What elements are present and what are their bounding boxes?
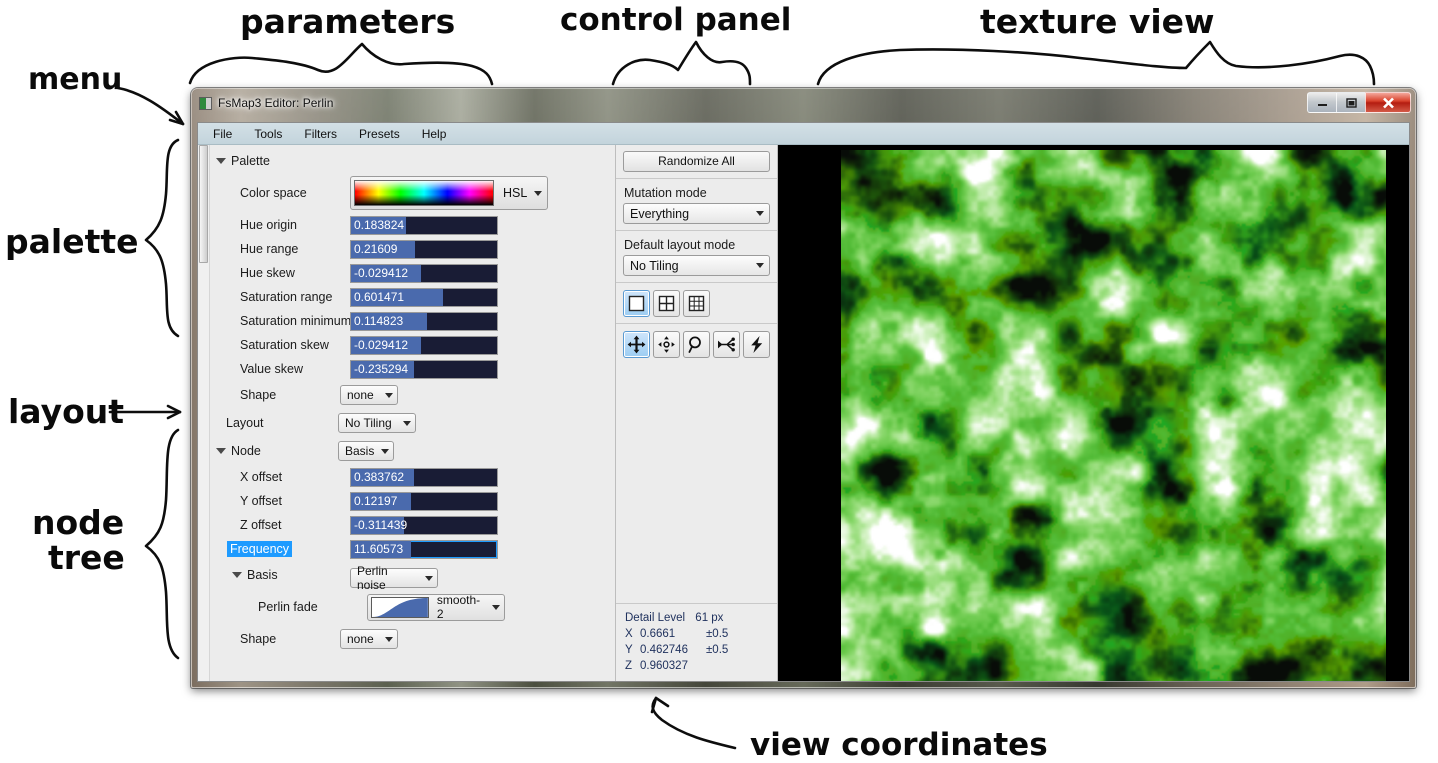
row-layout: Layout No Tiling — [210, 409, 615, 437]
magnifier-icon — [687, 335, 706, 354]
value-z-offset: -0.311439 — [354, 518, 407, 532]
row-hue-skew: Hue skew -0.029412 — [210, 261, 615, 285]
value-palette-shape: none — [347, 388, 374, 402]
label-hue-range: Hue range — [240, 242, 298, 256]
label-frequency[interactable]: Frequency — [227, 541, 292, 557]
caption-button-group — [1307, 92, 1411, 113]
value-default-layout-mode: No Tiling — [630, 259, 679, 273]
menu-bar: File Tools Filters Presets Help — [198, 123, 1409, 145]
quad-view-button[interactable] — [653, 290, 680, 317]
combo-node-shape[interactable]: none — [340, 629, 398, 649]
row-palette-shape: Shape none — [210, 381, 615, 409]
row-frequency: Frequency 11.60573 — [210, 537, 615, 561]
coord-row-x: X 0.6661 ±0.5 — [625, 626, 769, 642]
chevron-down-icon[interactable] — [492, 605, 500, 610]
control-panel: Randomize All Mutation mode Everything D… — [615, 145, 778, 681]
label-perlin-fade: Perlin fade — [258, 600, 318, 614]
annotation-view-coordinates: view coordinates — [750, 727, 1048, 763]
row-y-offset: Y offset 0.12197 — [210, 489, 615, 513]
hue-gradient-icon — [354, 180, 494, 206]
value-node-type: Basis — [345, 444, 374, 458]
label-layout: Layout — [226, 416, 264, 430]
expander-triangle-icon[interactable] — [216, 158, 226, 164]
label-value-skew: Value skew — [240, 362, 303, 376]
quad-pane-icon — [658, 295, 675, 312]
node-branch-icon — [717, 335, 736, 354]
group-header-palette[interactable]: Palette — [210, 149, 615, 173]
parameters-scrollbar-thumb[interactable] — [199, 145, 208, 263]
color-space-widget[interactable]: HSL — [350, 176, 548, 210]
single-view-button[interactable] — [623, 290, 650, 317]
combo-layout[interactable]: No Tiling — [338, 413, 416, 433]
label-hue-origin: Hue origin — [240, 218, 297, 232]
value-frequency: 11.60573 — [354, 542, 403, 556]
annotation-control-panel: control panel — [560, 2, 791, 38]
menu-item-tools[interactable]: Tools — [243, 125, 293, 143]
move-dots-icon — [657, 335, 676, 354]
menu-item-presets[interactable]: Presets — [348, 125, 411, 143]
parameters-panel: Palette Color space HSL Hue origin — [210, 145, 615, 681]
label-node-shape: Shape — [240, 632, 276, 646]
slider-saturation-skew[interactable]: -0.029412 — [350, 336, 498, 355]
value-saturation-skew: -0.029412 — [354, 338, 408, 352]
annotation-texture-view: texture view — [980, 2, 1215, 41]
menu-item-file[interactable]: File — [202, 125, 243, 143]
texture-view-brace — [818, 42, 1374, 84]
menu-arrow — [118, 88, 183, 124]
label-palette-shape: Shape — [240, 388, 276, 402]
row-color-space: Color space HSL — [210, 173, 615, 213]
magnify-tool-button[interactable] — [683, 331, 710, 358]
combo-basis[interactable]: Perlin noise — [350, 562, 438, 588]
fsmap3-editor-window: FsMap3 Editor: Perlin F — [191, 88, 1416, 688]
chevron-down-icon[interactable] — [756, 211, 764, 216]
pan-tool-button[interactable] — [623, 331, 650, 358]
value-y-offset: 0.12197 — [354, 494, 397, 508]
group-label-basis: Basis — [247, 568, 278, 582]
texture-canvas[interactable] — [841, 150, 1386, 681]
grid-view-button[interactable] — [683, 290, 710, 317]
label-z-offset: Z offset — [240, 518, 281, 532]
slider-y-offset[interactable]: 0.12197 — [350, 492, 498, 511]
coord-tolerance-y: ±0.5 — [706, 642, 728, 658]
coord-row-y: Y 0.462746 ±0.5 — [625, 642, 769, 658]
maximize-icon — [1346, 98, 1357, 108]
label-hue-skew: Hue skew — [240, 266, 295, 280]
combo-default-layout-mode[interactable]: No Tiling — [623, 255, 770, 276]
view-mode-toolbar — [616, 283, 777, 321]
group-header-basis[interactable]: Basis Perlin noise — [210, 561, 615, 589]
row-value-skew: Value skew -0.235294 — [210, 357, 615, 381]
control-panel-brace — [613, 42, 750, 84]
detail-level-value: 61 px — [695, 612, 723, 624]
coord-axis-y: Y — [625, 642, 640, 658]
row-saturation-range: Saturation range 0.601471 — [210, 285, 615, 309]
group-header-node[interactable]: Node Basis — [210, 437, 615, 465]
row-x-offset: X offset 0.383762 — [210, 465, 615, 489]
label-color-space: Color space — [240, 186, 307, 200]
coord-value-x: 0.6661 — [640, 626, 706, 642]
node-tree-brace — [146, 430, 178, 658]
slider-hue-skew[interactable]: -0.029412 — [350, 264, 498, 283]
row-saturation-minimum: Saturation minimum 0.114823 — [210, 309, 615, 333]
value-perlin-fade: smooth-2 — [437, 593, 485, 621]
node-tool-button[interactable] — [713, 331, 740, 358]
window-client-area: File Tools Filters Presets Help Palette … — [197, 122, 1410, 682]
value-mutation-mode: Everything — [630, 207, 689, 221]
move-arrows-icon — [627, 335, 646, 354]
label-x-offset: X offset — [240, 470, 282, 484]
minimize-icon — [1317, 98, 1328, 107]
label-default-layout-mode: Default layout mode — [624, 238, 770, 252]
lightning-bolt-icon — [747, 335, 766, 354]
annotation-node-tree-line2: tree — [48, 538, 125, 577]
chevron-down-icon[interactable] — [756, 263, 764, 268]
menu-item-filters[interactable]: Filters — [293, 125, 348, 143]
value-x-offset: 0.383762 — [354, 470, 404, 484]
fade-curve-icon — [371, 597, 429, 618]
value-saturation-minimum: 0.114823 — [354, 314, 403, 328]
close-button[interactable] — [1365, 92, 1411, 113]
close-icon — [1382, 97, 1395, 109]
group-label-palette: Palette — [231, 154, 270, 168]
chevron-down-icon[interactable] — [385, 637, 393, 642]
zoom-pan-tool-button[interactable] — [653, 331, 680, 358]
tool-toolbar — [616, 324, 777, 362]
annotation-palette: palette — [5, 222, 139, 261]
annotation-menu: menu — [28, 62, 122, 97]
parameters-scrollbar[interactable] — [198, 145, 210, 681]
value-basis: Perlin noise — [357, 564, 418, 592]
chevron-down-icon[interactable] — [403, 421, 411, 426]
expander-triangle-icon[interactable] — [216, 448, 226, 454]
row-hue-origin: Hue origin 0.183824 — [210, 213, 615, 237]
grid-pane-icon — [688, 295, 705, 312]
palette-brace — [146, 140, 178, 336]
window-titlebar[interactable]: FsMap3 Editor: Perlin — [191, 88, 1416, 122]
value-layout: No Tiling — [345, 416, 392, 430]
slider-saturation-minimum[interactable]: 0.114823 — [350, 312, 498, 331]
expander-triangle-icon[interactable] — [232, 572, 242, 578]
row-perlin-fade: Perlin fade smooth-2 — [210, 589, 615, 625]
value-value-skew: -0.235294 — [354, 362, 408, 376]
row-z-offset: Z offset -0.311439 — [210, 513, 615, 537]
slider-hue-range[interactable]: 0.21609 — [350, 240, 498, 259]
window-title: FsMap3 Editor: Perlin — [218, 96, 333, 110]
value-hue-origin: 0.183824 — [354, 218, 404, 232]
annotation-layout: layout — [8, 392, 124, 431]
chevron-down-icon[interactable] — [381, 449, 389, 454]
label-saturation-minimum: Saturation minimum — [240, 314, 351, 328]
row-node-shape: Shape none — [210, 625, 615, 653]
slider-hue-origin[interactable]: 0.183824 — [350, 216, 498, 235]
value-hue-skew: -0.029412 — [354, 266, 408, 280]
combo-node-type[interactable]: Basis — [338, 441, 394, 461]
value-node-shape: none — [347, 632, 374, 646]
combo-palette-shape[interactable]: none — [340, 385, 398, 405]
coord-value-y: 0.462746 — [640, 642, 706, 658]
single-pane-icon — [628, 295, 645, 312]
annotation-node-tree-line1: node — [32, 503, 124, 542]
slider-saturation-range[interactable]: 0.601471 — [350, 288, 498, 307]
value-saturation-range: 0.601471 — [354, 290, 404, 304]
slider-x-offset[interactable]: 0.383762 — [350, 468, 498, 487]
coord-row-z: Z 0.960327 — [625, 658, 769, 674]
perlin-fade-widget[interactable]: smooth-2 — [367, 594, 505, 621]
chevron-down-icon[interactable] — [534, 191, 542, 196]
row-hue-range: Hue range 0.21609 — [210, 237, 615, 261]
chevron-down-icon[interactable] — [425, 576, 433, 581]
coord-value-z: 0.960327 — [640, 658, 706, 674]
view-coordinates-panel: Detail Level 61 px X 0.6661 ±0.5 Y 0.462… — [616, 603, 777, 681]
slider-value-skew[interactable]: -0.235294 — [350, 360, 498, 379]
label-saturation-range: Saturation range — [240, 290, 332, 304]
randomize-all-button[interactable]: Randomize All — [623, 151, 770, 172]
detail-level-label: Detail Level — [625, 612, 685, 624]
label-y-offset: Y offset — [240, 494, 282, 508]
detail-level-row: Detail Level 61 px — [625, 610, 769, 626]
label-mutation-mode: Mutation mode — [624, 186, 770, 200]
row-saturation-skew: Saturation skew -0.029412 — [210, 333, 615, 357]
coord-axis-x: X — [625, 626, 640, 642]
slider-frequency[interactable]: 11.60573 — [350, 540, 498, 559]
main-body: Palette Color space HSL Hue origin — [198, 145, 1409, 681]
color-space-value: HSL — [503, 186, 527, 200]
annotation-parameters: parameters — [240, 2, 455, 41]
value-hue-range: 0.21609 — [354, 242, 397, 256]
coord-axis-z: Z — [625, 658, 640, 674]
combo-mutation-mode[interactable]: Everything — [623, 203, 770, 224]
menu-item-help[interactable]: Help — [411, 125, 458, 143]
group-label-node: Node — [231, 444, 261, 458]
maximize-button[interactable] — [1336, 92, 1365, 113]
application-icon — [199, 97, 212, 110]
label-saturation-skew: Saturation skew — [240, 338, 329, 352]
slider-z-offset[interactable]: -0.311439 — [350, 516, 498, 535]
view-coordinates-arrow — [653, 698, 735, 748]
parameters-brace — [190, 44, 492, 84]
mutate-tool-button[interactable] — [743, 331, 770, 358]
chevron-down-icon[interactable] — [385, 393, 393, 398]
minimize-button[interactable] — [1307, 92, 1336, 113]
coord-tolerance-x: ±0.5 — [706, 626, 728, 642]
texture-view[interactable] — [778, 145, 1409, 681]
